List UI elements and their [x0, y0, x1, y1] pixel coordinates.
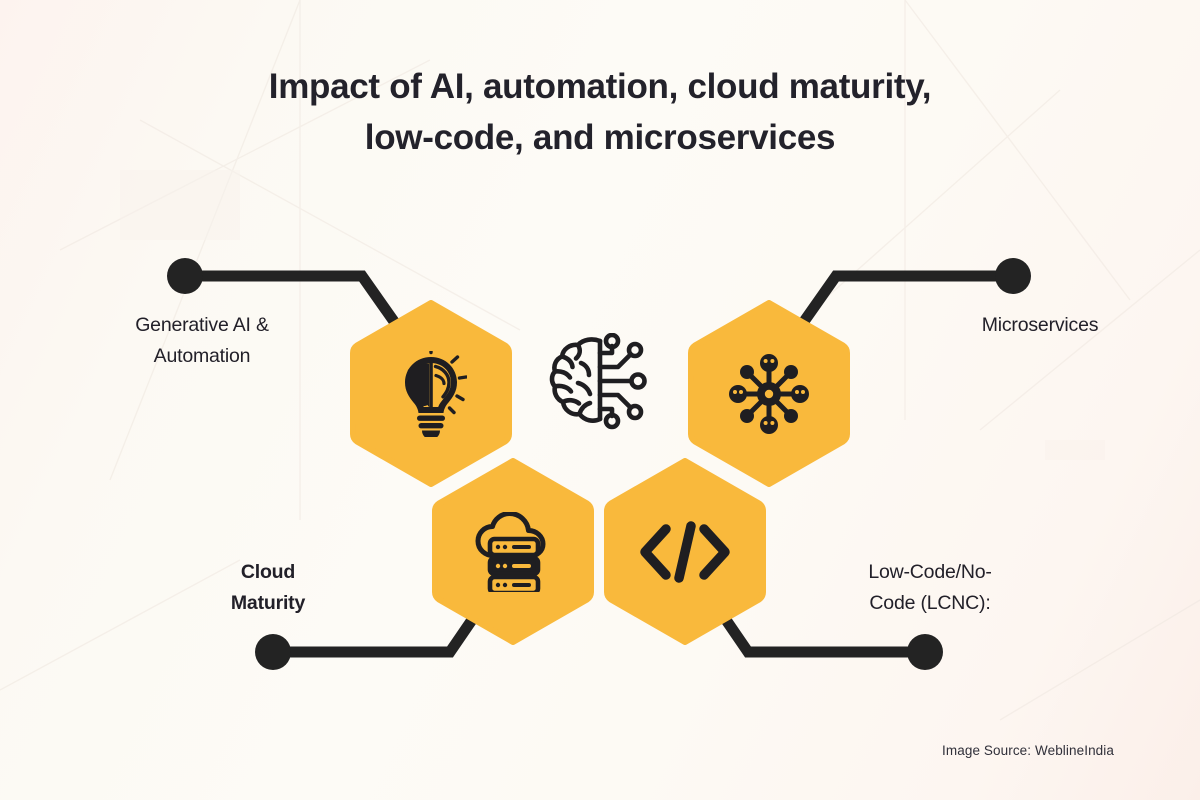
label-generative-ai-line-2: Automation — [72, 341, 332, 372]
label-microservices: Microservices — [915, 310, 1165, 341]
cloud-server-icon — [471, 512, 555, 592]
label-cloud-maturity-line-1: Cloud — [178, 557, 358, 588]
label-generative-ai-line-1: Generative AI & — [72, 310, 332, 341]
infographic-canvas: Impact of AI, automation, cloud maturity… — [0, 0, 1200, 800]
label-cloud-maturity-line-2: Maturity — [178, 588, 358, 619]
label-low-code-no-code: Low-Code/No- Code (LCNC): — [820, 557, 1040, 619]
image-source-credit: Image Source: WeblineIndia — [942, 743, 1114, 758]
code-brackets-icon — [639, 521, 731, 583]
label-cloud-maturity: Cloud Maturity — [178, 557, 358, 619]
label-generative-ai: Generative AI & Automation — [72, 310, 332, 372]
network-hub-nodes-icon — [727, 352, 811, 436]
label-low-code-line-2: Code (LCNC): — [820, 588, 1040, 619]
label-microservices-line-1: Microservices — [915, 310, 1165, 341]
ai-brain-circuit-icon — [548, 333, 652, 431]
brain-lightbulb-icon — [395, 351, 467, 437]
hex-cloud-maturity[interactable] — [432, 458, 594, 645]
label-low-code-line-1: Low-Code/No- — [820, 557, 1040, 588]
hex-low-code-no-code[interactable] — [604, 458, 766, 645]
